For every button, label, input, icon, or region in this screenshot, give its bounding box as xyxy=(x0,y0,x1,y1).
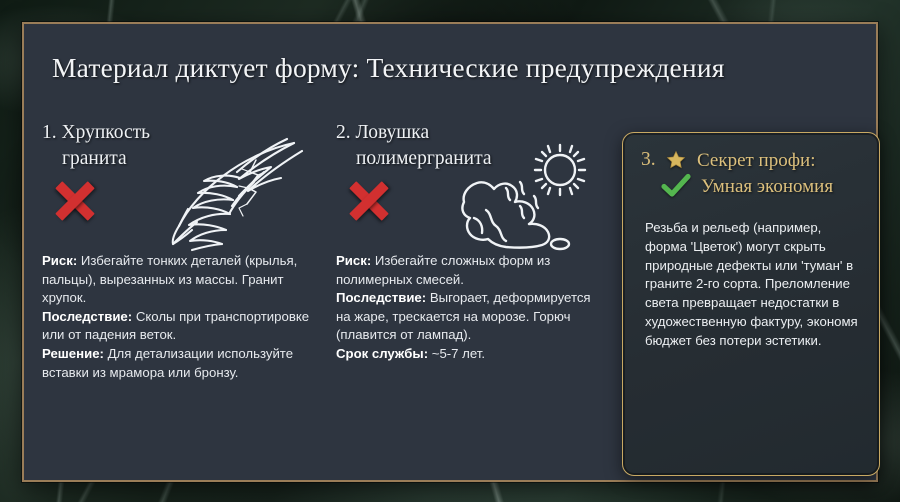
pro-tip-body: Резьба и рельеф (например, форма 'Цветок… xyxy=(639,211,863,351)
warning-card-granite-brittleness: 1. Хрупкость гранита xyxy=(42,120,324,480)
body-item-label: Срок службы: xyxy=(336,346,428,361)
card-number: 1. xyxy=(42,122,57,143)
card-body: Риск: Избегайте тонких деталей (крылья, … xyxy=(42,252,324,382)
page-title: Материал диктует форму: Технические пред… xyxy=(52,52,852,84)
slide-panel: Материал диктует форму: Технические пред… xyxy=(22,22,878,482)
card-body: Риск: Избегайте сложных форм из полимерн… xyxy=(336,252,608,364)
body-item-label: Риск: xyxy=(336,253,371,268)
melting-blob-sun-icon xyxy=(444,144,604,256)
star-icon xyxy=(666,150,686,170)
card-title-line1: Ловушка xyxy=(356,122,430,143)
green-check-icon xyxy=(661,173,691,199)
body-item: Риск: Избегайте сложных форм из полимерн… xyxy=(336,252,608,289)
card-header: 1. Хрупкость гранита xyxy=(42,120,324,252)
body-item-label: Последствие: xyxy=(42,309,132,324)
body-item: Последствие: Выгорает, деформируется на … xyxy=(336,289,608,345)
red-x-icon xyxy=(52,178,98,224)
body-item: Последствие: Сколы при транспортировке и… xyxy=(42,308,324,345)
warning-card-polymer-granite-trap: 2. Ловушка полимергранита xyxy=(336,120,608,480)
pro-tip-title-line2: Умная экономия xyxy=(697,174,833,200)
card-header: 2. Ловушка полимергранита xyxy=(336,120,608,252)
pro-tip-card: 3. Секрет профи: Умная экономия Резьба и… xyxy=(622,132,880,476)
card-number: 3. xyxy=(641,149,656,171)
body-item-label: Последствие: xyxy=(336,290,426,305)
cracked-wing-icon xyxy=(144,138,314,250)
body-item-text: ~5-7 лет. xyxy=(428,346,485,361)
pro-tip-title: Секрет профи: Умная экономия xyxy=(697,148,833,200)
card-number: 2. xyxy=(336,122,351,143)
body-item: Риск: Избегайте тонких деталей (крылья, … xyxy=(42,252,324,308)
card-title-line1: Хрупкость xyxy=(62,122,151,143)
body-item-text: Избегайте тонких деталей (крылья, пальцы… xyxy=(42,253,297,305)
pro-tip-title-line1: Секрет профи: xyxy=(697,150,815,171)
body-item: Решение: Для детализации используйте вст… xyxy=(42,345,324,382)
pro-tip-header: 3. Секрет профи: Умная экономия xyxy=(639,149,863,211)
red-x-icon xyxy=(346,178,392,224)
body-item-label: Решение: xyxy=(42,346,104,361)
body-item: Срок службы: ~5-7 лет. xyxy=(336,345,608,364)
body-item-label: Риск: xyxy=(42,253,77,268)
